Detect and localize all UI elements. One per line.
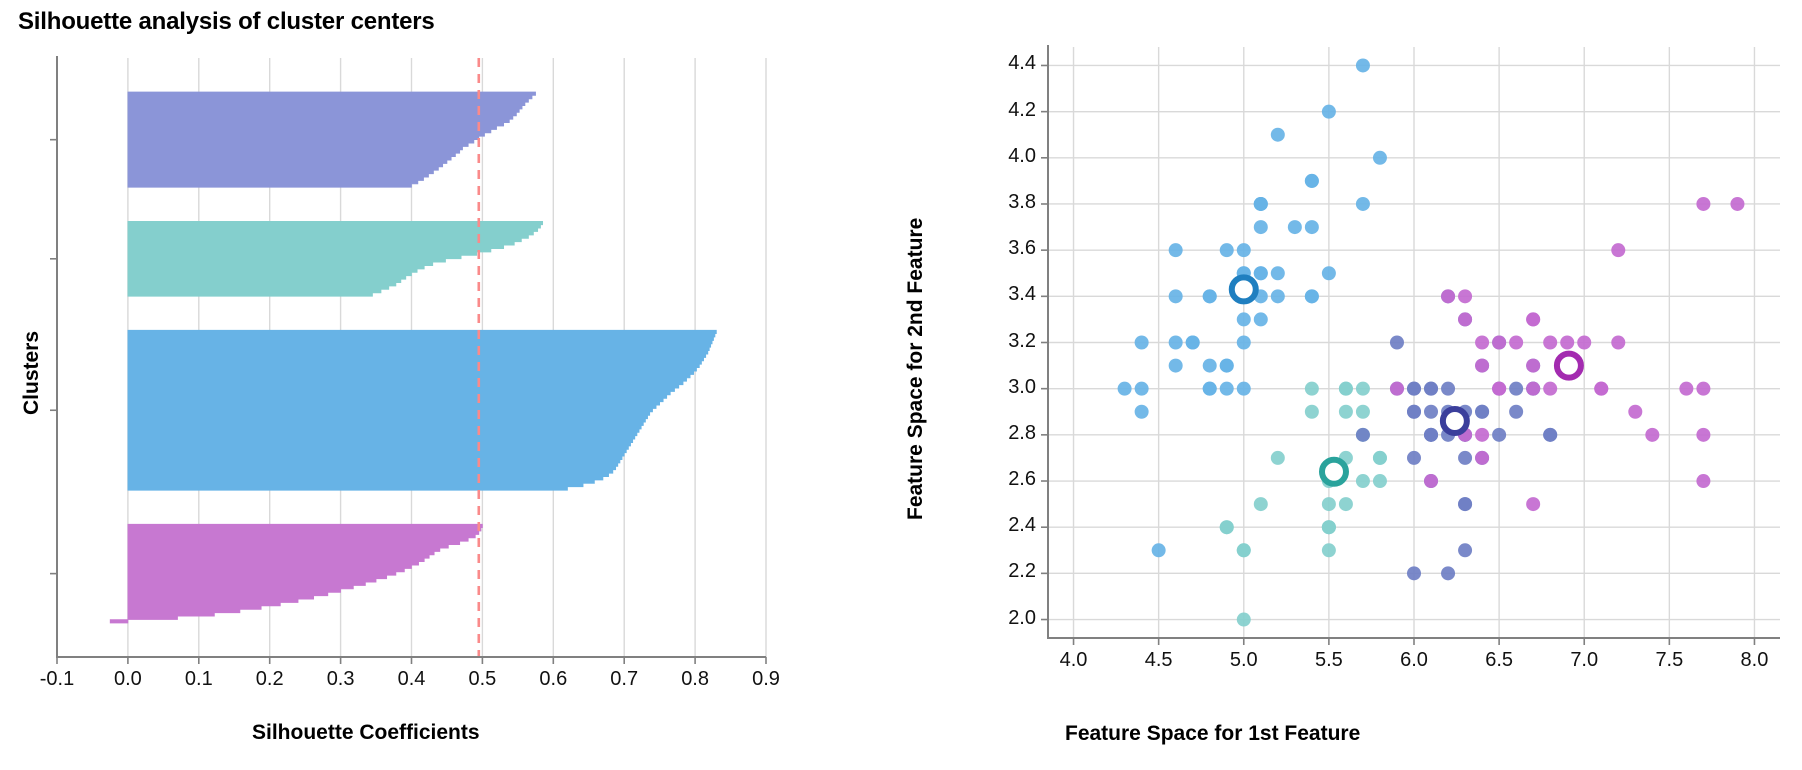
scatter-point [1254, 220, 1268, 234]
scatter-point [1526, 382, 1540, 396]
scatter-point [1254, 497, 1268, 511]
scatter-point [1492, 428, 1506, 442]
scatter-point [1237, 613, 1251, 627]
figure-canvas: Silhouette analysis of cluster centers -… [0, 0, 1802, 770]
silhouette-xtick-label: 0.3 [319, 668, 363, 691]
scatter-xtick-label: 6.5 [1477, 649, 1521, 672]
scatter-point [1237, 312, 1251, 326]
scatter-point [1203, 289, 1217, 303]
scatter-point [1305, 220, 1319, 234]
scatter-point [1458, 451, 1472, 465]
scatter-point [1254, 312, 1268, 326]
scatter-ytick-label: 3.2 [990, 330, 1036, 353]
scatter-point [1118, 382, 1132, 396]
scatter-xtick-label: 4.5 [1137, 649, 1181, 672]
scatter-point [1271, 289, 1285, 303]
scatter-point [1356, 474, 1370, 488]
scatter-xtick-label: 6.0 [1392, 649, 1436, 672]
silhouette-xtick-label: 0.5 [460, 668, 504, 691]
scatter-point [1339, 497, 1353, 511]
silhouette-band-1 [128, 221, 543, 296]
scatter-ytick-label: 2.8 [990, 422, 1036, 445]
scatter-point [1390, 336, 1404, 350]
scatter-point [1152, 543, 1166, 557]
scatter-point [1611, 336, 1625, 350]
scatter-point [1424, 428, 1438, 442]
scatter-point [1135, 336, 1149, 350]
scatter-point [1475, 451, 1489, 465]
scatter-point [1543, 336, 1557, 350]
scatter-point [1373, 474, 1387, 488]
silhouette-band-0 [128, 92, 536, 187]
scatter-xtick-label: 5.0 [1222, 649, 1266, 672]
scatter-point [1560, 336, 1574, 350]
scatter-point [1169, 359, 1183, 373]
scatter-point [1271, 128, 1285, 142]
scatter-point [1424, 474, 1438, 488]
scatter-point [1594, 382, 1608, 396]
scatter-point [1475, 359, 1489, 373]
silhouette-xtick-label: 0.0 [106, 668, 150, 691]
scatter-point [1441, 289, 1455, 303]
scatter-point [1237, 336, 1251, 350]
scatter-point [1526, 312, 1540, 326]
scatter-point [1305, 405, 1319, 419]
scatter-point [1220, 520, 1234, 534]
scatter-point [1203, 382, 1217, 396]
scatter-point [1577, 336, 1591, 350]
scatter-ytick-label: 2.0 [990, 607, 1036, 630]
scatter-point [1730, 197, 1744, 211]
scatter-point [1305, 289, 1319, 303]
scatter-point [1407, 405, 1421, 419]
scatter-panel: 4.04.55.05.56.06.57.07.58.02.02.22.42.62… [900, 0, 1802, 770]
scatter-point [1322, 266, 1336, 280]
silhouette-plot-svg [0, 0, 790, 770]
silhouette-area [110, 524, 482, 623]
scatter-point [1458, 497, 1472, 511]
scatter-point [1628, 405, 1642, 419]
scatter-point [1220, 243, 1234, 257]
scatter-point [1373, 451, 1387, 465]
scatter-point [1509, 382, 1523, 396]
center-cluster-2 [1232, 277, 1256, 301]
scatter-point [1458, 543, 1472, 557]
silhouette-area [128, 221, 543, 296]
scatter-point [1696, 474, 1710, 488]
scatter-point [1509, 336, 1523, 350]
scatter-point [1492, 336, 1506, 350]
scatter-point [1475, 336, 1489, 350]
scatter-point [1407, 566, 1421, 580]
scatter-point [1305, 382, 1319, 396]
center-cluster-0 [1443, 409, 1467, 433]
silhouette-band-3 [110, 524, 482, 623]
silhouette-xtick-label: 0.9 [744, 668, 788, 691]
scatter-point [1390, 382, 1404, 396]
silhouette-xaxis-title: Silhouette Coefficients [252, 721, 480, 745]
silhouette-xtick-label: 0.4 [390, 668, 434, 691]
scatter-point [1169, 289, 1183, 303]
scatter-xaxis-title: Feature Space for 1st Feature [1065, 722, 1360, 746]
scatter-point [1203, 359, 1217, 373]
scatter-point [1186, 336, 1200, 350]
scatter-point [1611, 243, 1625, 257]
scatter-point [1237, 543, 1251, 557]
scatter-point [1220, 382, 1234, 396]
scatter-point [1356, 405, 1370, 419]
scatter-ytick-label: 3.8 [990, 191, 1036, 214]
silhouette-xtick-label: 0.6 [531, 668, 575, 691]
scatter-ytick-label: 2.2 [990, 560, 1036, 583]
silhouette-xtick-label: 0.8 [673, 668, 717, 691]
scatter-point [1254, 266, 1268, 280]
cluster-center-marker [1443, 409, 1467, 433]
scatter-ytick-label: 4.4 [990, 52, 1036, 75]
silhouette-band-2 [128, 330, 716, 490]
scatter-point [1169, 243, 1183, 257]
scatter-point [1696, 197, 1710, 211]
scatter-xtick-label: 8.0 [1732, 649, 1776, 672]
scatter-point [1441, 566, 1455, 580]
scatter-series-1 [1220, 382, 1387, 627]
scatter-point [1322, 520, 1336, 534]
scatter-point [1526, 497, 1540, 511]
scatter-ytick-label: 2.4 [990, 514, 1036, 537]
silhouette-yaxis-title: Clusters [20, 331, 44, 415]
scatter-point [1305, 174, 1319, 188]
scatter-xtick-label: 4.0 [1052, 649, 1096, 672]
scatter-point [1424, 405, 1438, 419]
scatter-point [1271, 451, 1285, 465]
center-cluster-3 [1557, 354, 1581, 378]
scatter-point [1696, 382, 1710, 396]
scatter-yaxis-title: Feature Space for 2nd Feature [904, 218, 928, 520]
scatter-point [1254, 197, 1268, 211]
scatter-ytick-label: 4.0 [990, 145, 1036, 168]
scatter-point [1407, 451, 1421, 465]
scatter-point [1458, 289, 1472, 303]
scatter-point [1543, 382, 1557, 396]
scatter-point [1135, 382, 1149, 396]
scatter-point [1356, 58, 1370, 72]
scatter-point [1679, 382, 1693, 396]
scatter-point [1424, 382, 1438, 396]
silhouette-xtick-label: 0.1 [177, 668, 221, 691]
silhouette-xtick-label: 0.7 [602, 668, 646, 691]
scatter-point [1696, 428, 1710, 442]
scatter-xtick-label: 7.5 [1647, 649, 1691, 672]
scatter-point [1169, 336, 1183, 350]
scatter-point [1322, 543, 1336, 557]
scatter-ytick-label: 3.4 [990, 283, 1036, 306]
scatter-point [1322, 497, 1336, 511]
scatter-xtick-label: 5.5 [1307, 649, 1351, 672]
scatter-point [1543, 428, 1557, 442]
cluster-center-marker [1557, 354, 1581, 378]
scatter-point [1356, 428, 1370, 442]
scatter-ytick-label: 3.6 [990, 237, 1036, 260]
scatter-point [1441, 382, 1455, 396]
scatter-point [1458, 312, 1472, 326]
scatter-point [1645, 428, 1659, 442]
scatter-point [1322, 105, 1336, 119]
scatter-point [1339, 405, 1353, 419]
silhouette-xtick-label: -0.1 [35, 668, 79, 691]
scatter-point [1271, 266, 1285, 280]
scatter-ytick-label: 2.6 [990, 468, 1036, 491]
scatter-point [1509, 405, 1523, 419]
scatter-point [1356, 382, 1370, 396]
cluster-center-marker [1322, 460, 1346, 484]
scatter-point [1237, 382, 1251, 396]
scatter-point [1475, 405, 1489, 419]
scatter-ytick-label: 3.0 [990, 376, 1036, 399]
scatter-point [1373, 151, 1387, 165]
cluster-center-marker [1232, 277, 1256, 301]
silhouette-area [128, 330, 716, 490]
center-cluster-1 [1322, 460, 1346, 484]
scatter-point [1237, 243, 1251, 257]
silhouette-xtick-label: 0.2 [248, 668, 292, 691]
scatter-point [1407, 382, 1421, 396]
scatter-ytick-label: 4.2 [990, 99, 1036, 122]
silhouette-panel: -0.10.00.10.20.30.40.50.60.70.80.9 Silho… [0, 0, 790, 770]
scatter-point [1220, 359, 1234, 373]
scatter-point [1356, 197, 1370, 211]
silhouette-area [128, 92, 536, 187]
scatter-point [1475, 428, 1489, 442]
scatter-point [1492, 382, 1506, 396]
scatter-point [1339, 382, 1353, 396]
scatter-xtick-label: 7.0 [1562, 649, 1606, 672]
scatter-point [1288, 220, 1302, 234]
scatter-point [1135, 405, 1149, 419]
scatter-point [1526, 359, 1540, 373]
